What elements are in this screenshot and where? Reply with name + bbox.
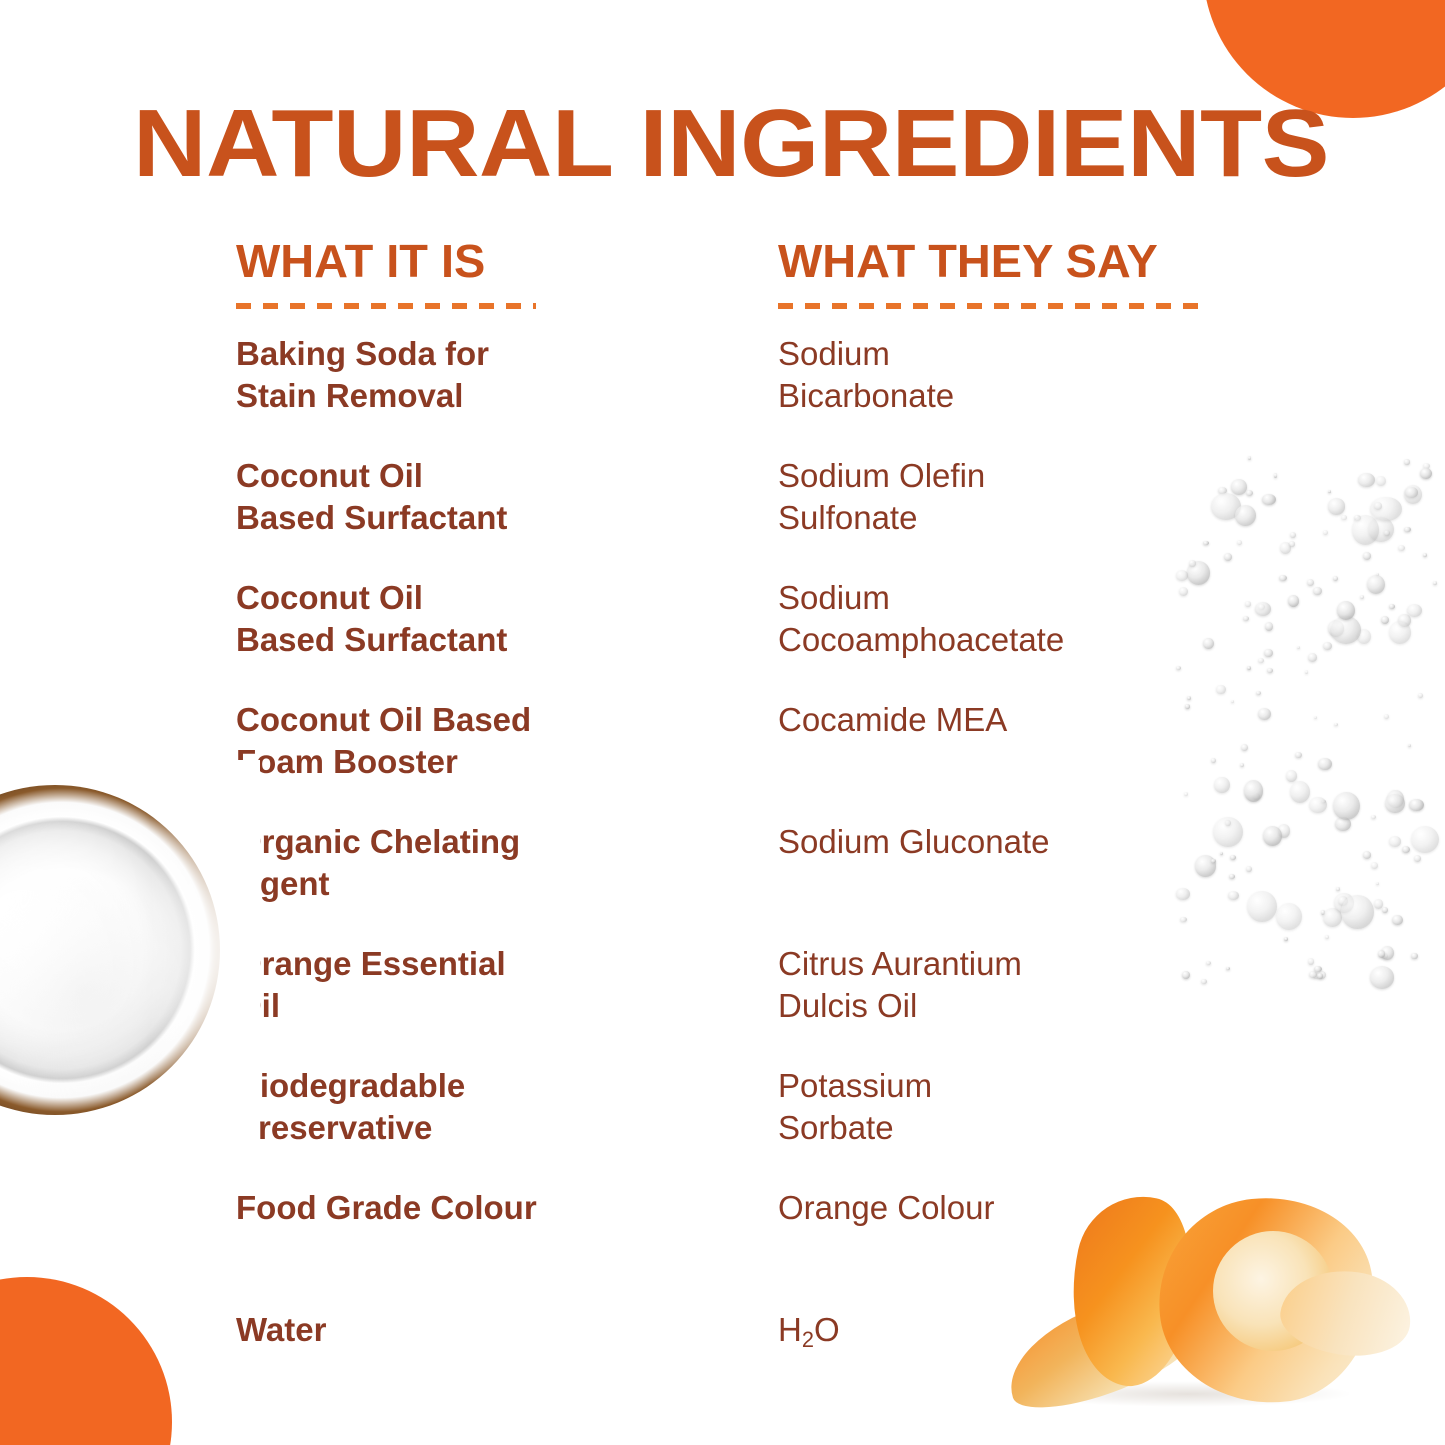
coconut-fade-overlay [150,760,260,1140]
water-droplet-icon [1376,882,1379,885]
water-droplet-icon [1405,487,1418,498]
water-droplet-icon [1378,950,1386,957]
cell-what-they-say: Sodium Bicarbonate [778,333,954,417]
water-droplet-icon [1216,685,1225,695]
cell-what-they-say: Sodium Cocoamphoacetate [778,577,1064,661]
water-droplet-icon [1241,744,1248,752]
water-droplet-icon [1423,553,1427,557]
water-droplet-icon [1256,691,1261,695]
water-droplet-icon [1328,498,1346,514]
water-droplet-icon [1371,815,1376,819]
water-droplet-icon [1176,888,1190,900]
water-droplet-icon [1229,874,1235,879]
water-droplet-icon [1286,770,1297,782]
water-droplet-icon [1289,541,1295,546]
water-droplet-icon [1258,658,1264,663]
water-droplet-icon [1317,973,1324,979]
water-droplet-icon [1333,576,1338,581]
water-droplet-icon [1307,579,1314,586]
cell-what-it-is: Coconut Oil Based Surfactant [236,577,507,661]
table-row: Sodium Bicarbonate [778,333,1248,455]
water-droplet-icon [1389,604,1395,609]
water-droplet-icon [1247,666,1251,671]
water-droplet-icon [1264,649,1272,657]
water-droplet-icon [1290,781,1310,803]
water-droplet-icon [1389,621,1411,644]
table-row: Coconut Oil Based Surfactant [236,577,706,699]
column-header-what-it-is: WHAT IT IS [236,236,715,286]
water-droplet-icon [1230,855,1237,861]
cell-what-it-is: Coconut Oil Based Surfactant [236,455,507,539]
water-droplet-icon [1246,490,1253,496]
water-droplet-icon [1333,792,1360,820]
water-droplet-icon [1297,646,1300,649]
water-droplet-icon [1203,638,1214,650]
water-droplet-icon [1420,468,1432,479]
water-droplet-icon [1389,836,1401,847]
water-droplet-icon [1363,552,1371,559]
table-row: Biodegradable Preservative [236,1065,706,1187]
water-droplet-icon [1284,937,1288,941]
water-droplets-image [1175,455,1445,995]
water-droplet-icon [1276,903,1302,930]
water-droplet-icon [1255,602,1272,616]
water-droplet-icon [1206,961,1211,965]
water-droplet-icon [1308,653,1317,661]
water-droplet-icon [1376,476,1385,486]
water-droplet-icon [1360,595,1364,599]
water-droplet-icon [1245,601,1251,607]
cell-what-they-say: Orange Colour [778,1187,994,1229]
water-droplet-icon [1211,758,1216,763]
water-droplet-icon [1414,855,1421,862]
table-row: Coconut Oil Based Foam Booster [236,699,706,821]
page-title: NATURAL INGREDIENTS [133,96,1329,192]
water-droplet-icon [1314,716,1317,719]
water-droplet-icon [1398,545,1406,552]
water-droplet-icon [1404,527,1410,533]
water-droplet-icon [1370,966,1395,989]
water-droplet-icon [1211,859,1216,864]
water-droplet-icon [1309,971,1317,978]
water-droplet-icon [1418,693,1423,699]
water-droplet-icon [1228,891,1239,900]
water-droplet-icon [1226,967,1230,970]
water-droplet-icon [1258,708,1271,720]
water-droplet-icon [1290,532,1296,538]
water-droplet-icon [1305,670,1308,674]
rows-what-it-is: Baking Soda for Stain Removal Coconut Oi… [236,333,706,1431]
water-droplet-icon [1411,826,1439,853]
water-droplet-icon [1247,891,1277,923]
water-droplet-icon [1179,587,1188,596]
water-droplet-icon [1385,794,1405,814]
cell-what-they-say: Citrus Aurantium Dulcis Oil [778,943,1022,1027]
cell-what-it-is: Coconut Oil Based Foam Booster [236,699,531,783]
water-droplet-icon [1374,502,1383,510]
table-row: Organic Chelating Agent [236,821,706,943]
water-droplet-icon [1352,515,1379,544]
table-row: Coconut Oil Based Surfactant [236,455,706,577]
cell-what-they-say: Potassium Sorbate [778,1065,932,1149]
water-droplet-icon [1334,723,1338,726]
water-droplet-icon [1213,817,1243,847]
water-droplet-icon [1184,792,1188,796]
water-droplet-icon [1341,895,1374,930]
water-droplet-icon [1244,780,1264,802]
water-droplet-icon [1267,668,1273,673]
water-droplet-icon [1402,846,1410,853]
water-droplet-icon [1248,456,1252,460]
water-droplet-icon [1214,777,1230,794]
water-droplet-icon [1243,616,1249,621]
water-droplet-icon [1185,704,1191,709]
water-droplet-icon [1336,887,1340,890]
water-droplet-icon [1358,473,1375,487]
water-droplet-icon [1313,587,1321,595]
water-droplet-icon [1381,616,1389,624]
water-droplet-icon [1201,979,1207,984]
cell-what-it-is: Orange Essential Oil [236,943,506,1027]
ingredients-infographic: NATURAL INGREDIENTS WHAT IT IS Baking So… [0,0,1445,1445]
water-droplet-icon [1235,505,1256,526]
water-droplet-icon [1309,797,1327,814]
cell-what-they-say: Sodium Olefin Sulfonate [778,455,985,539]
water-droplet-icon [1246,866,1252,872]
water-droplet-icon [1404,459,1409,464]
water-droplet-icon [1318,758,1332,771]
water-droplet-icon [1382,907,1388,913]
water-droplet-icon [1237,540,1242,545]
water-droplet-icon [1341,515,1347,521]
water-droplet-icon [1288,595,1299,607]
column-what-it-is: WHAT IT IS Baking Soda for Stain Removal… [236,236,706,1431]
water-droplet-icon [1265,622,1273,631]
water-droplet-icon [1363,851,1371,859]
water-droplet-icon [1274,473,1278,477]
water-droplet-icon [1409,799,1423,811]
water-droplet-icon [1182,971,1190,979]
water-droplet-icon [1263,826,1283,847]
table-row: Baking Soda for Stain Removal [236,333,706,455]
water-droplet-icon [1295,752,1302,758]
cell-what-they-say: Cocamide MEA [778,699,1007,741]
water-droplet-icon [1240,763,1244,767]
cell-what-it-is: Food Grade Colour [236,1187,537,1229]
water-droplet-icon [1176,666,1181,670]
cell-what-it-is: Water [236,1309,326,1351]
water-droplet-icon [1323,642,1332,650]
water-droplet-icon [1411,953,1417,960]
water-droplet-icon [1180,917,1187,922]
water-droplet-icon [1176,570,1188,580]
water-droplet-icon [1262,494,1276,505]
water-droplet-icon [1203,541,1209,546]
water-droplet-icon [1231,700,1234,703]
water-droplet-icon [1187,696,1192,700]
water-droplet-icon [1308,958,1315,965]
cell-what-they-say: Sodium Gluconate [778,821,1050,863]
water-droplet-icon [1433,581,1437,585]
column-header-what-they-say: WHAT THEY SAY [778,236,1257,286]
table-row: Food Grade Colour [236,1187,706,1309]
cell-what-they-say: H2O [778,1309,840,1351]
cell-what-it-is: Baking Soda for Stain Removal [236,333,489,417]
cell-what-it-is: Biodegradable Preservative [236,1065,465,1149]
water-droplet-icon [1371,862,1378,869]
water-droplet-icon [1279,575,1287,581]
water-droplet-icon [1323,530,1328,535]
water-droplet-icon [1392,915,1403,926]
table-row: Water [236,1309,706,1431]
water-droplet-icon [1384,714,1389,719]
water-droplet-icon [1367,575,1385,594]
water-droplet-icon [1325,935,1329,938]
water-droplet-icon [1408,744,1411,747]
cell-what-it-is: Organic Chelating Agent [236,821,520,905]
water-droplet-icon [1328,490,1331,493]
column-divider-right [778,303,1198,309]
column-divider-left [236,303,536,309]
water-droplet-icon [1407,604,1422,617]
table-row: Orange Essential Oil [236,943,706,1065]
water-droplet-icon [1220,852,1224,856]
water-droplet-icon [1231,479,1248,495]
water-droplet-icon [1224,553,1233,561]
orange-peel-image [963,1147,1433,1407]
